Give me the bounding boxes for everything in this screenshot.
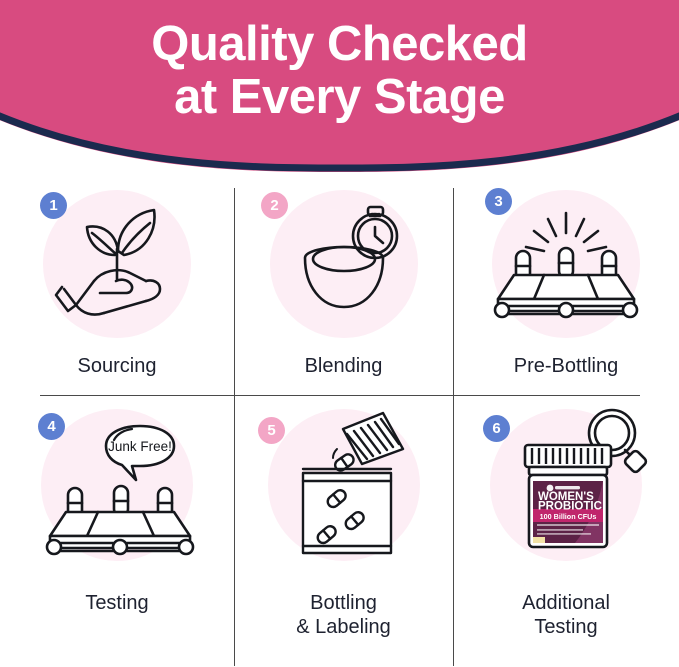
step-badge-number: 5 xyxy=(267,423,275,438)
step-badge-number: 6 xyxy=(492,421,500,436)
step-1-art: 1 xyxy=(0,178,234,350)
step-badge-4: 4 xyxy=(38,413,65,440)
step-cell-blending[interactable]: 2 xyxy=(234,178,453,395)
product-potency: 100 Billion CFUs xyxy=(539,512,596,521)
steps-grid: 1 xyxy=(0,178,679,667)
step-cell-testing[interactable]: 4 Junk Free! xyxy=(0,395,234,667)
step-badge-6: 6 xyxy=(483,415,510,442)
step-badge-1: 1 xyxy=(40,192,67,219)
step-label-additional-testing: Additional Testing xyxy=(522,591,610,640)
step-badge-number: 1 xyxy=(49,198,57,213)
header-banner: Quality Checked at Every Stage xyxy=(0,0,679,180)
step-label-testing: Testing xyxy=(85,591,148,615)
page-title: Quality Checked at Every Stage xyxy=(0,18,679,124)
step-badge-number: 3 xyxy=(494,194,502,209)
step-cell-sourcing[interactable]: 1 xyxy=(0,178,234,395)
mixing-bowl-stopwatch-icon xyxy=(269,189,419,339)
step-badge-5: 5 xyxy=(258,417,285,444)
step-badge-3: 3 xyxy=(485,188,512,215)
step-cell-pre-bottling[interactable]: 3 xyxy=(453,178,679,395)
product-name-line2: PROBIOTIC xyxy=(538,500,602,512)
speech-bubble-text: Junk Free! xyxy=(108,439,172,454)
step-label-sourcing: Sourcing xyxy=(78,354,157,378)
infographic-page: Quality Checked at Every Stage 1 xyxy=(0,0,679,667)
step-label-pre-bottling: Pre-Bottling xyxy=(514,354,619,378)
step-3-art: 3 xyxy=(453,178,679,350)
step-badge-number: 2 xyxy=(270,198,278,213)
step-badge-2: 2 xyxy=(261,192,288,219)
bottle-filling-chute-icon xyxy=(261,401,426,576)
step-cell-bottling-labeling[interactable]: 5 xyxy=(234,395,453,667)
step-badge-number: 4 xyxy=(47,419,55,434)
step-4-art: 4 Junk Free! xyxy=(0,395,234,575)
step-5-art: 5 xyxy=(234,395,453,575)
step-2-art: 2 xyxy=(234,178,453,350)
step-cell-additional-testing[interactable]: 6 xyxy=(453,395,679,667)
conveyor-capsules-sparkle-icon xyxy=(486,189,646,339)
step-label-bottling-labeling: Bottling & Labeling xyxy=(296,591,391,640)
step-6-art: 6 xyxy=(453,395,679,575)
step-label-blending: Blending xyxy=(305,354,383,378)
